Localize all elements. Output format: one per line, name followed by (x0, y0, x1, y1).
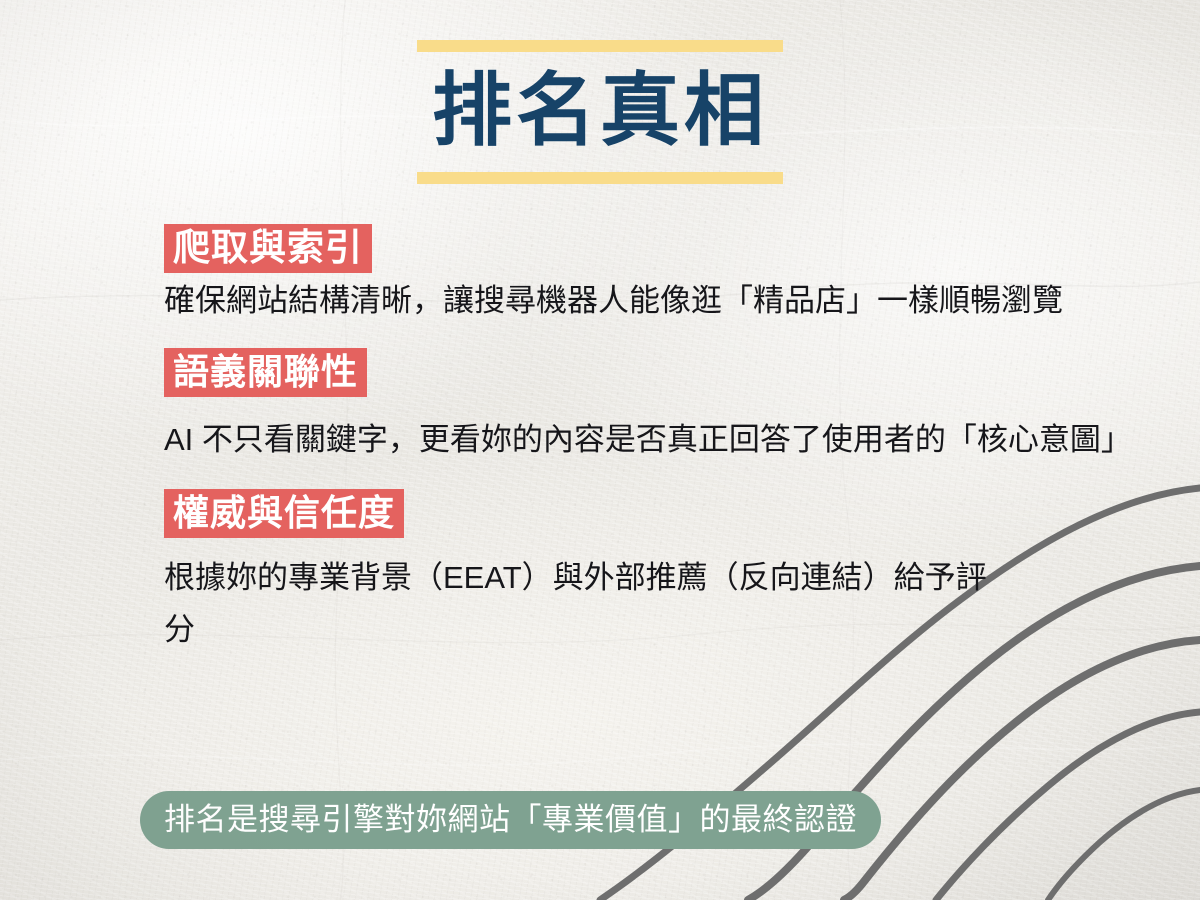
paper-vignette (0, 0, 1200, 900)
slide-canvas: 排名真相 爬取與索引 確保網站結構清晰，讓搜尋機器人能像逛「精品店」一樣順暢瀏覽… (0, 0, 1200, 900)
